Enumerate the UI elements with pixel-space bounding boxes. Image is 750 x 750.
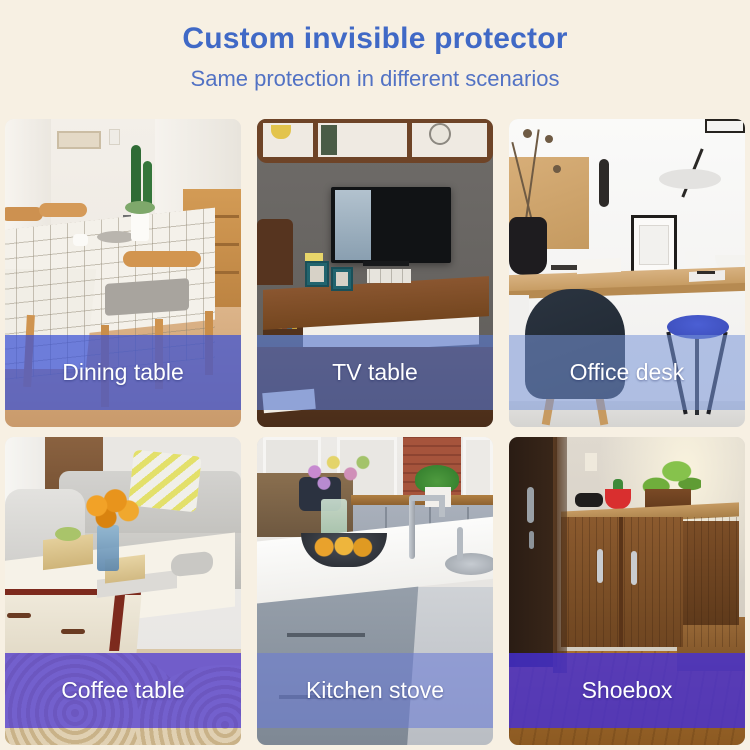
scenario-tile-coffee-table[interactable]: Coffee table	[5, 437, 241, 745]
tile-caption: Kitchen stove	[306, 677, 444, 704]
page-title: Custom invisible protector	[0, 22, 750, 57]
tile-caption: Shoebox	[582, 677, 673, 704]
scenario-grid: Dining table TV table	[5, 119, 745, 745]
caption-overlay-bar: Shoebox	[509, 653, 745, 728]
scenario-tile-office-desk[interactable]: Office desk	[509, 119, 745, 427]
page-subtitle: Same protection in different scenarios	[0, 66, 750, 91]
tile-caption: Dining table	[62, 359, 183, 386]
scenario-tile-kitchen-stove[interactable]: Kitchen stove	[257, 437, 493, 745]
tile-caption: TV table	[332, 359, 418, 386]
tile-caption: Coffee table	[61, 677, 185, 704]
caption-overlay-bar: TV table	[257, 335, 493, 410]
scenario-tile-dining-table[interactable]: Dining table	[5, 119, 241, 427]
caption-overlay-bar: Kitchen stove	[257, 653, 493, 728]
caption-overlay-bar: Dining table	[5, 335, 241, 410]
tile-caption: Office desk	[570, 359, 685, 386]
scenario-tile-shoebox[interactable]: Shoebox	[509, 437, 745, 745]
caption-overlay-bar: Office desk	[509, 335, 745, 410]
header: Custom invisible protector Same protecti…	[0, 0, 750, 91]
scenario-tile-tv-table[interactable]: TV table	[257, 119, 493, 427]
caption-overlay-bar: Coffee table	[5, 653, 241, 728]
